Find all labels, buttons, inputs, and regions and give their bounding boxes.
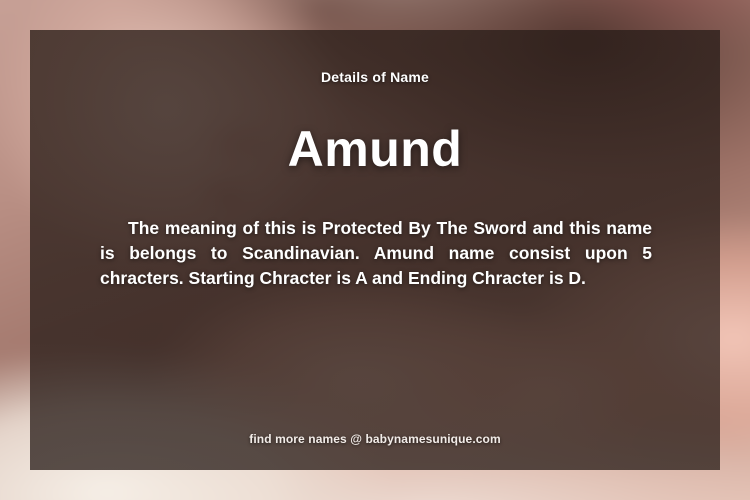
footer-attribution: find more names @ babynamesunique.com <box>30 432 720 446</box>
name-description: The meaning of this is Protected By The … <box>100 216 652 291</box>
card-kicker: Details of Name <box>30 69 720 85</box>
baby-name-card: Details of Name Amund The meaning of thi… <box>0 0 750 500</box>
name-title: Amund <box>30 122 720 177</box>
content-overlay-panel: Details of Name Amund The meaning of thi… <box>30 30 720 470</box>
